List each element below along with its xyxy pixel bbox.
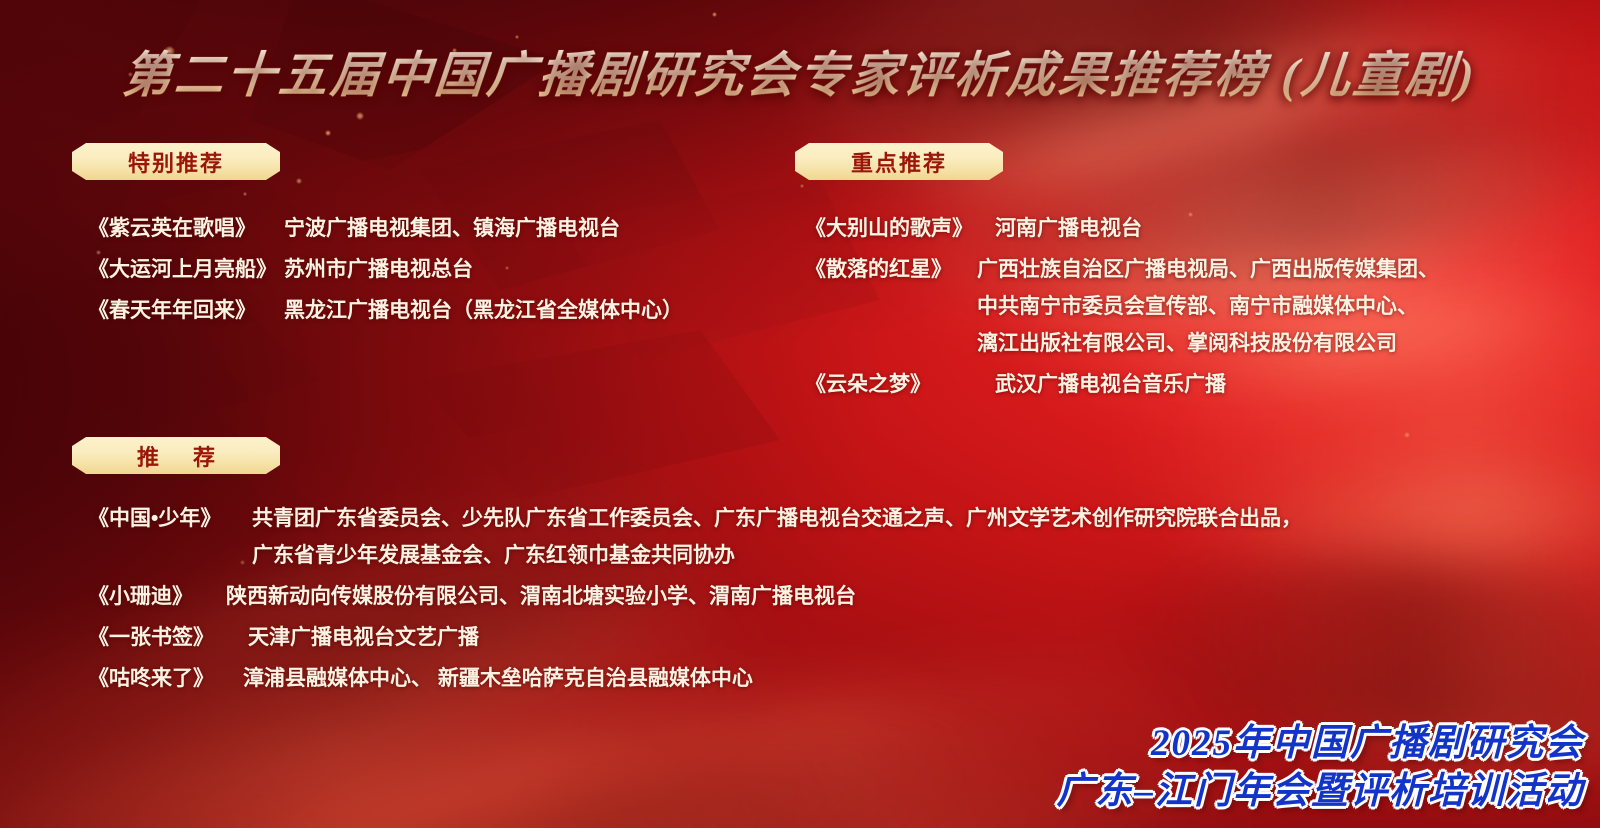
entry-title: 《大别山的歌声》 <box>805 210 995 247</box>
list-item: 《春天年年回来》 黑龙江广播电视台（黑龙江省全媒体中心） <box>88 292 788 329</box>
entry-org-line: 陕西新动向传媒股份有限公司、渭南北塘实验小学、渭南广播电视台 <box>226 578 856 615</box>
background-bottom-glow <box>0 0 1600 828</box>
entry-org-line: 广东省青少年发展基金会、广东红领巾基金共同协办 <box>252 537 1302 574</box>
entry-org-line: 中共南宁市委员会宣传部、南宁市融媒体中心、 <box>977 288 1439 325</box>
entry-org-line: 共青团广东省委员会、少先队广东省工作委员会、广东广播电视台交通之声、广州文学艺术… <box>252 500 1302 537</box>
list-item: 《中国•少年》 共青团广东省委员会、少先队广东省工作委员会、广东广播电视台交通之… <box>88 500 1548 574</box>
entry-title: 《散落的红星》 <box>805 251 977 288</box>
entry-list-special: 《紫云英在歌唱》 宁波广播电视集团、镇海广播电视台 《大运河上月亮船》 苏州市广… <box>88 210 788 333</box>
page-title: 第二十五届中国广播剧研究会专家评析成果推荐榜 (儿童剧) <box>0 36 1600 107</box>
background-top-shade <box>0 0 1600 828</box>
background-ribbon-shards <box>0 0 1600 828</box>
entry-org-line: 漓江出版社有限公司、掌阅科技股份有限公司 <box>977 325 1439 362</box>
entry-org: 漳浦县融媒体中心、 新疆木垒哈萨克自治县融媒体中心 <box>243 660 753 697</box>
background-left-shade <box>0 0 1600 828</box>
entry-org-line: 广西壮族自治区广播电视局、广西出版传媒集团、 <box>977 251 1439 288</box>
entry-list-general: 《中国•少年》 共青团广东省委员会、少先队广东省工作委员会、广东广播电视台交通之… <box>88 500 1548 701</box>
entry-org-line: 武汉广播电视台音乐广播 <box>995 366 1226 403</box>
list-item: 《小珊迪》 陕西新动向传媒股份有限公司、渭南北塘实验小学、渭南广播电视台 <box>88 578 1548 615</box>
list-item: 《紫云英在歌唱》 宁波广播电视集团、镇海广播电视台 <box>88 210 788 247</box>
entry-title: 《中国•少年》 <box>88 500 252 537</box>
entry-org: 宁波广播电视集团、镇海广播电视台 <box>284 210 620 247</box>
entry-org-line: 漳浦县融媒体中心、 新疆木垒哈萨克自治县融媒体中心 <box>243 660 753 697</box>
entry-org-line: 河南广播电视台 <box>995 210 1142 247</box>
section-badge-key: 重点推荐 <box>795 143 1003 180</box>
entry-org: 苏州市广播电视总台 <box>284 251 473 288</box>
list-item: 《散落的红星》 广西壮族自治区广播电视局、广西出版传媒集团、 中共南宁市委员会宣… <box>805 251 1595 362</box>
list-item: 《咕咚来了》 漳浦县融媒体中心、 新疆木垒哈萨克自治县融媒体中心 <box>88 660 1548 697</box>
event-info: 2025年中国广播剧研究会 广东–江门年会暨评析培训活动 <box>1057 720 1585 816</box>
entry-org-line: 苏州市广播电视总台 <box>284 251 473 288</box>
background-base <box>0 0 1600 828</box>
entry-title: 《一张书签》 <box>88 619 248 656</box>
entry-org: 共青团广东省委员会、少先队广东省工作委员会、广东广播电视台交通之声、广州文学艺术… <box>252 500 1302 574</box>
entry-org: 武汉广播电视台音乐广播 <box>995 366 1226 403</box>
entry-title: 《云朵之梦》 <box>805 366 995 403</box>
background-vignette <box>0 0 1600 828</box>
entry-org-line: 黑龙江广播电视台（黑龙江省全媒体中心） <box>284 292 683 329</box>
entry-title: 《紫云英在歌唱》 <box>88 210 284 247</box>
entry-list-key: 《大别山的歌声》 河南广播电视台 《散落的红星》 广西壮族自治区广播电视局、广西… <box>805 210 1595 407</box>
entry-org: 黑龙江广播电视台（黑龙江省全媒体中心） <box>284 292 683 329</box>
background-sparkles <box>0 0 1600 828</box>
list-item: 《大运河上月亮船》 苏州市广播电视总台 <box>88 251 788 288</box>
poster-stage: 第二十五届中国广播剧研究会专家评析成果推荐榜 (儿童剧) 特别推荐 《紫云英在歌… <box>0 0 1600 828</box>
entry-title: 《小珊迪》 <box>88 578 226 615</box>
section-badge-special: 特别推荐 <box>72 143 280 180</box>
entry-org-line: 宁波广播电视集团、镇海广播电视台 <box>284 210 620 247</box>
entry-title: 《咕咚来了》 <box>88 660 243 697</box>
entry-org: 河南广播电视台 <box>995 210 1142 247</box>
entry-title: 《春天年年回来》 <box>88 292 284 329</box>
entry-org: 天津广播电视台文艺广播 <box>248 619 479 656</box>
event-line-1: 2025年中国广播剧研究会 <box>1057 720 1585 768</box>
entry-org: 广西壮族自治区广播电视局、广西出版传媒集团、 中共南宁市委员会宣传部、南宁市融媒… <box>977 251 1439 362</box>
event-line-2: 广东–江门年会暨评析培训活动 <box>1057 768 1585 816</box>
entry-org: 陕西新动向传媒股份有限公司、渭南北塘实验小学、渭南广播电视台 <box>226 578 856 615</box>
section-badge-general: 推 荐 <box>72 437 280 474</box>
list-item: 《大别山的歌声》 河南广播电视台 <box>805 210 1595 247</box>
list-item: 《一张书签》 天津广播电视台文艺广播 <box>88 619 1548 656</box>
entry-title: 《大运河上月亮船》 <box>88 251 284 288</box>
background-satin-folds <box>0 0 1600 828</box>
list-item: 《云朵之梦》 武汉广播电视台音乐广播 <box>805 366 1595 403</box>
entry-org-line: 天津广播电视台文艺广播 <box>248 619 479 656</box>
